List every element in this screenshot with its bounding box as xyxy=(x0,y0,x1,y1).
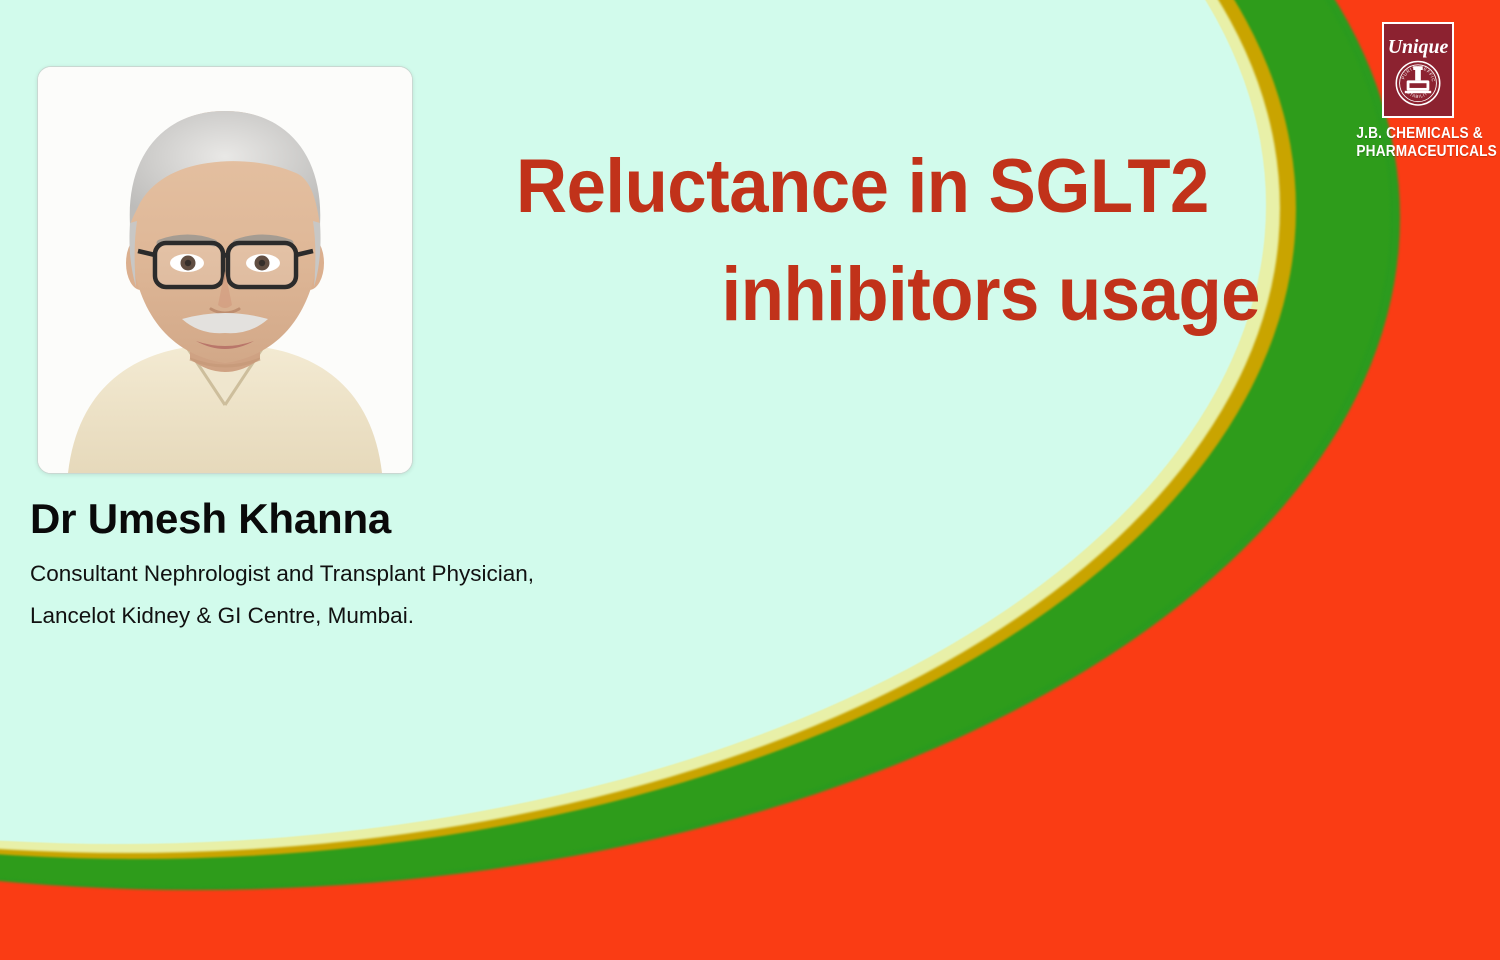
speaker-photo xyxy=(37,66,413,474)
company-logo: Unique PURITY EFFICACY STABILITY xyxy=(1348,22,1488,162)
company-name: J.B. CHEMICALS & PHARMACEUTICALS LTD. xyxy=(1356,125,1479,162)
company-name-line-2: PHARMACEUTICALS LTD. xyxy=(1356,143,1479,161)
speaker-credential-line-1: Consultant Nephrologist and Transplant P… xyxy=(30,561,534,587)
speaker-name: Dr Umesh Khanna xyxy=(30,495,391,543)
presentation-slide: Reluctance in SGLT2 inhibitors usage Dr … xyxy=(0,0,1500,960)
slide-title-line-1: Reluctance in SGLT2 xyxy=(488,133,1260,241)
unique-brand-mark-icon: Unique PURITY EFFICACY STABILITY xyxy=(1382,22,1454,118)
slide-title: Reluctance in SGLT2 inhibitors usage xyxy=(488,133,1260,349)
company-name-line-1: J.B. CHEMICALS & xyxy=(1356,125,1479,143)
unique-seal-icon: Unique PURITY EFFICACY STABILITY xyxy=(1384,24,1452,116)
slide-title-line-2: inhibitors usage xyxy=(488,241,1260,349)
speaker-credential-line-2: Lancelot Kidney & GI Centre, Mumbai. xyxy=(30,603,414,629)
svg-text:Unique: Unique xyxy=(1388,36,1449,58)
portrait-illustration xyxy=(38,67,412,473)
